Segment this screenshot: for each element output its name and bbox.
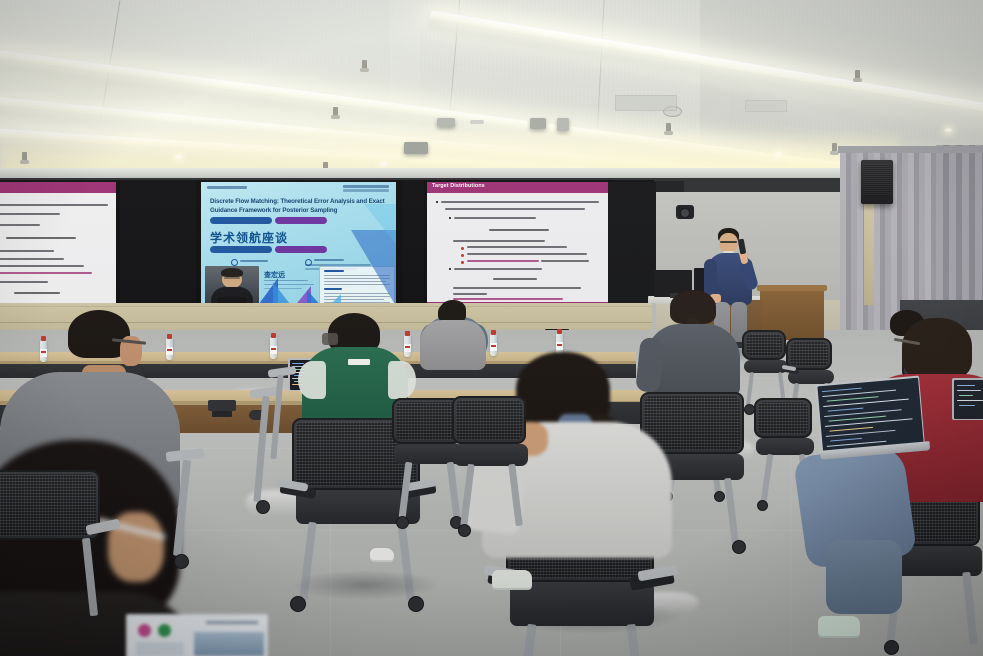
poster-speaker-hair: [221, 268, 243, 277]
downlight-icon: [775, 152, 782, 156]
air-vent: [745, 100, 787, 112]
university-logo-right-sub: [343, 189, 389, 192]
sprinkler-icon: [333, 107, 338, 116]
poster-title-en: Discrete Flow Matching: Theoretical Erro…: [210, 198, 386, 215]
laptop-lid: [815, 376, 925, 453]
poster-time-tag-2: [275, 246, 327, 253]
audience-tshirt: [420, 320, 486, 370]
chair-caster: [174, 554, 189, 569]
center-right-blank-panel[interactable]: [402, 182, 424, 304]
water-bottle: [40, 340, 47, 362]
water-bottle: [166, 338, 173, 360]
poster-series-cn: 学术领航座谈: [210, 229, 288, 246]
wall-seam: [0, 306, 690, 307]
chair-backrest: [754, 398, 812, 438]
sprinkler-icon: [362, 60, 367, 69]
jacket-shoulder-panel-right: [388, 361, 416, 399]
downlight-icon: [175, 155, 182, 159]
water-bottle: [490, 334, 497, 356]
chair-seat: [454, 444, 528, 466]
presenter-glasses: [720, 241, 737, 243]
laptop-screen: [954, 380, 983, 419]
poster-date-tag-2: [210, 246, 272, 253]
poster-host-label: [240, 260, 268, 262]
chair-seat: [756, 438, 814, 455]
poster-date-tag: [210, 217, 272, 224]
chair-caster: [757, 500, 768, 511]
university-logo-left: [207, 186, 247, 189]
laptop-lid: [126, 614, 268, 656]
chair-caster: [396, 516, 409, 529]
laptop-screen: [817, 377, 923, 451]
slide-title: Target Distributions: [427, 182, 608, 191]
water-bottle: [270, 337, 277, 359]
jacket-shoulder-panel-left: [298, 361, 326, 399]
downlight-icon: [945, 128, 952, 132]
poster-venue-label: [314, 259, 344, 261]
left-projection-screen[interactable]: [0, 182, 116, 304]
wall-speaker: [861, 160, 893, 204]
ceiling-mount: [470, 120, 484, 124]
av-device: [208, 400, 236, 411]
lecture-hall-photo: Discrete Flow Matching: Theoretical Erro…: [0, 0, 983, 656]
host-icon: [231, 259, 238, 266]
audience-hair: [902, 318, 972, 380]
water-bottle: [404, 335, 411, 357]
chair-shadow: [500, 600, 680, 634]
sprinkler-icon: [855, 70, 860, 79]
poster-bio-heading: [324, 270, 344, 272]
ceiling-projector: [530, 118, 546, 129]
camera-icon: [676, 205, 694, 219]
audience-jeans-lower: [826, 540, 902, 614]
right-projection-screen[interactable]: Target Distributions: [427, 182, 608, 306]
curtain-gap-light: [864, 195, 874, 305]
university-logo-right: [343, 185, 389, 188]
audience-shoe: [370, 548, 394, 562]
laptop-screen: [128, 616, 267, 656]
laptop-app-icon: [138, 624, 151, 637]
chair-backrest: [452, 396, 526, 444]
poster-speaker-glasses: [224, 277, 240, 279]
sprinkler-icon: [832, 143, 837, 152]
jacket-label: [348, 359, 370, 365]
presenter-head: [719, 233, 738, 253]
podium-top: [757, 285, 827, 291]
chair-caster: [732, 540, 746, 554]
audience-shoe: [492, 570, 532, 590]
chair-caster: [714, 491, 725, 502]
chair-caster: [256, 500, 270, 514]
seminar-announcement-poster[interactable]: Discrete Flow Matching: Theoretical Erro…: [201, 182, 396, 308]
laptop-lid: [952, 378, 983, 420]
downlight-icon: [380, 162, 387, 166]
ceiling: [0, 0, 983, 186]
ceiling-projector: [404, 142, 428, 154]
chair-backrest: [0, 470, 100, 540]
ceiling-speaker: [557, 118, 569, 131]
chair-backrest: [742, 330, 786, 360]
poster-speaker-photo: [205, 266, 259, 308]
sprinkler-icon: [666, 123, 671, 132]
poster-decoration-triangle: [364, 204, 396, 244]
chair-caster: [884, 640, 899, 655]
laptop-app-icon: [158, 624, 171, 637]
audience-glasses: [322, 333, 338, 345]
left-screen-blank-panel[interactable]: [120, 182, 196, 304]
av-device-base: [212, 411, 232, 417]
poster-abstract-heading: [324, 288, 342, 290]
ceiling-projector: [437, 118, 455, 127]
air-vent: [615, 95, 677, 111]
curtain-rail: [838, 146, 983, 153]
right-blank-panel[interactable]: [608, 182, 656, 304]
chair-backrest: [786, 338, 832, 370]
sprinkler-icon: [22, 152, 27, 161]
chair-caster: [458, 524, 471, 537]
chair-shadow: [290, 570, 440, 600]
poster-time-tag: [275, 217, 327, 224]
audience-shoe: [818, 616, 860, 638]
